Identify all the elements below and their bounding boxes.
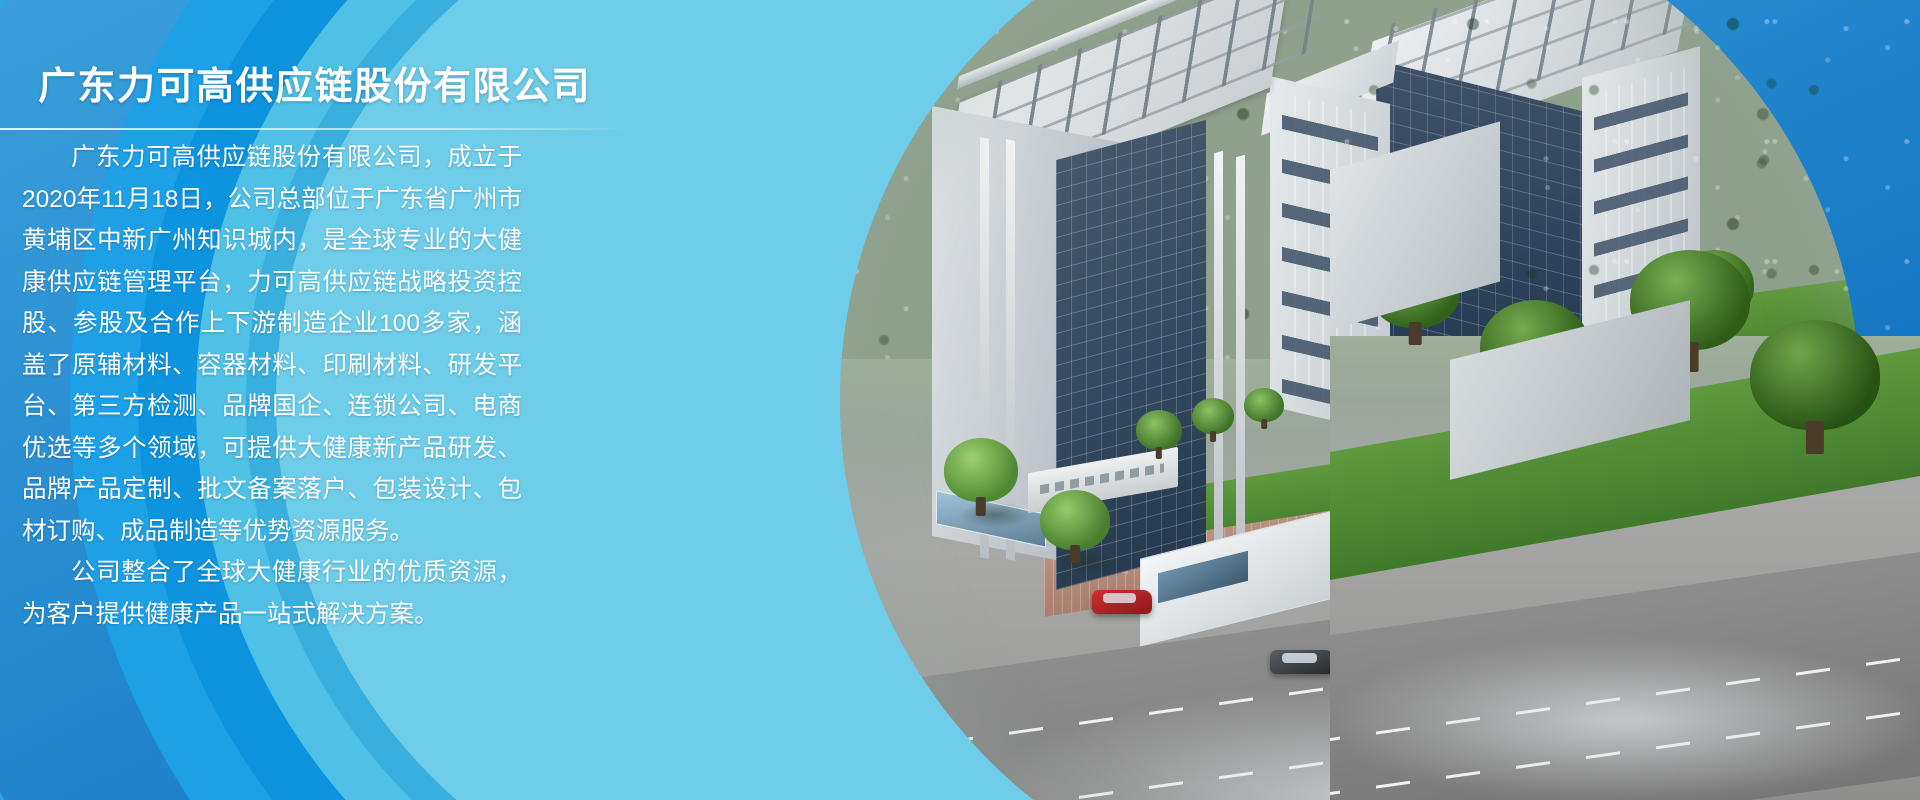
facade-fin [1236, 155, 1245, 577]
page-title: 广东力可高供应链股份有限公司 [38, 55, 591, 110]
company-description: 广东力可高供应链股份有限公司，成立于2020年11月18日，公司总部位于广东省广… [22, 137, 522, 635]
road-haze-right [1330, 640, 1920, 800]
facade-fin [1006, 139, 1015, 561]
street-tree [1750, 320, 1880, 430]
photo-scene-right [1330, 0, 1920, 800]
shrub [1192, 398, 1234, 434]
description-paragraph-2: 公司整合了全球大健康行业的优质资源，为客户提供健康产品一站式解决方案。 [22, 552, 522, 635]
street-tree [1040, 490, 1110, 550]
car-red [1092, 590, 1152, 614]
text-panel: 广东力可高供应链股份有限公司 广东力可高供应链股份有限公司，成立于2020年11… [0, 0, 660, 800]
tree-shadow [1054, 550, 1120, 574]
street-tree [944, 438, 1018, 502]
tree-shadow [960, 502, 1030, 528]
photo-right-bleed [1330, 0, 1920, 800]
title-divider [0, 128, 640, 130]
car-dark [1270, 650, 1334, 674]
facade-fin [1214, 151, 1223, 573]
description-paragraph-1: 广东力可高供应链股份有限公司，成立于2020年11月18日，公司总部位于广东省广… [22, 137, 522, 552]
shrub [1136, 410, 1182, 450]
company-profile-banner: 广东力可高供应链股份有限公司 广东力可高供应链股份有限公司，成立于2020年11… [0, 0, 1920, 800]
shrub [1244, 388, 1284, 422]
